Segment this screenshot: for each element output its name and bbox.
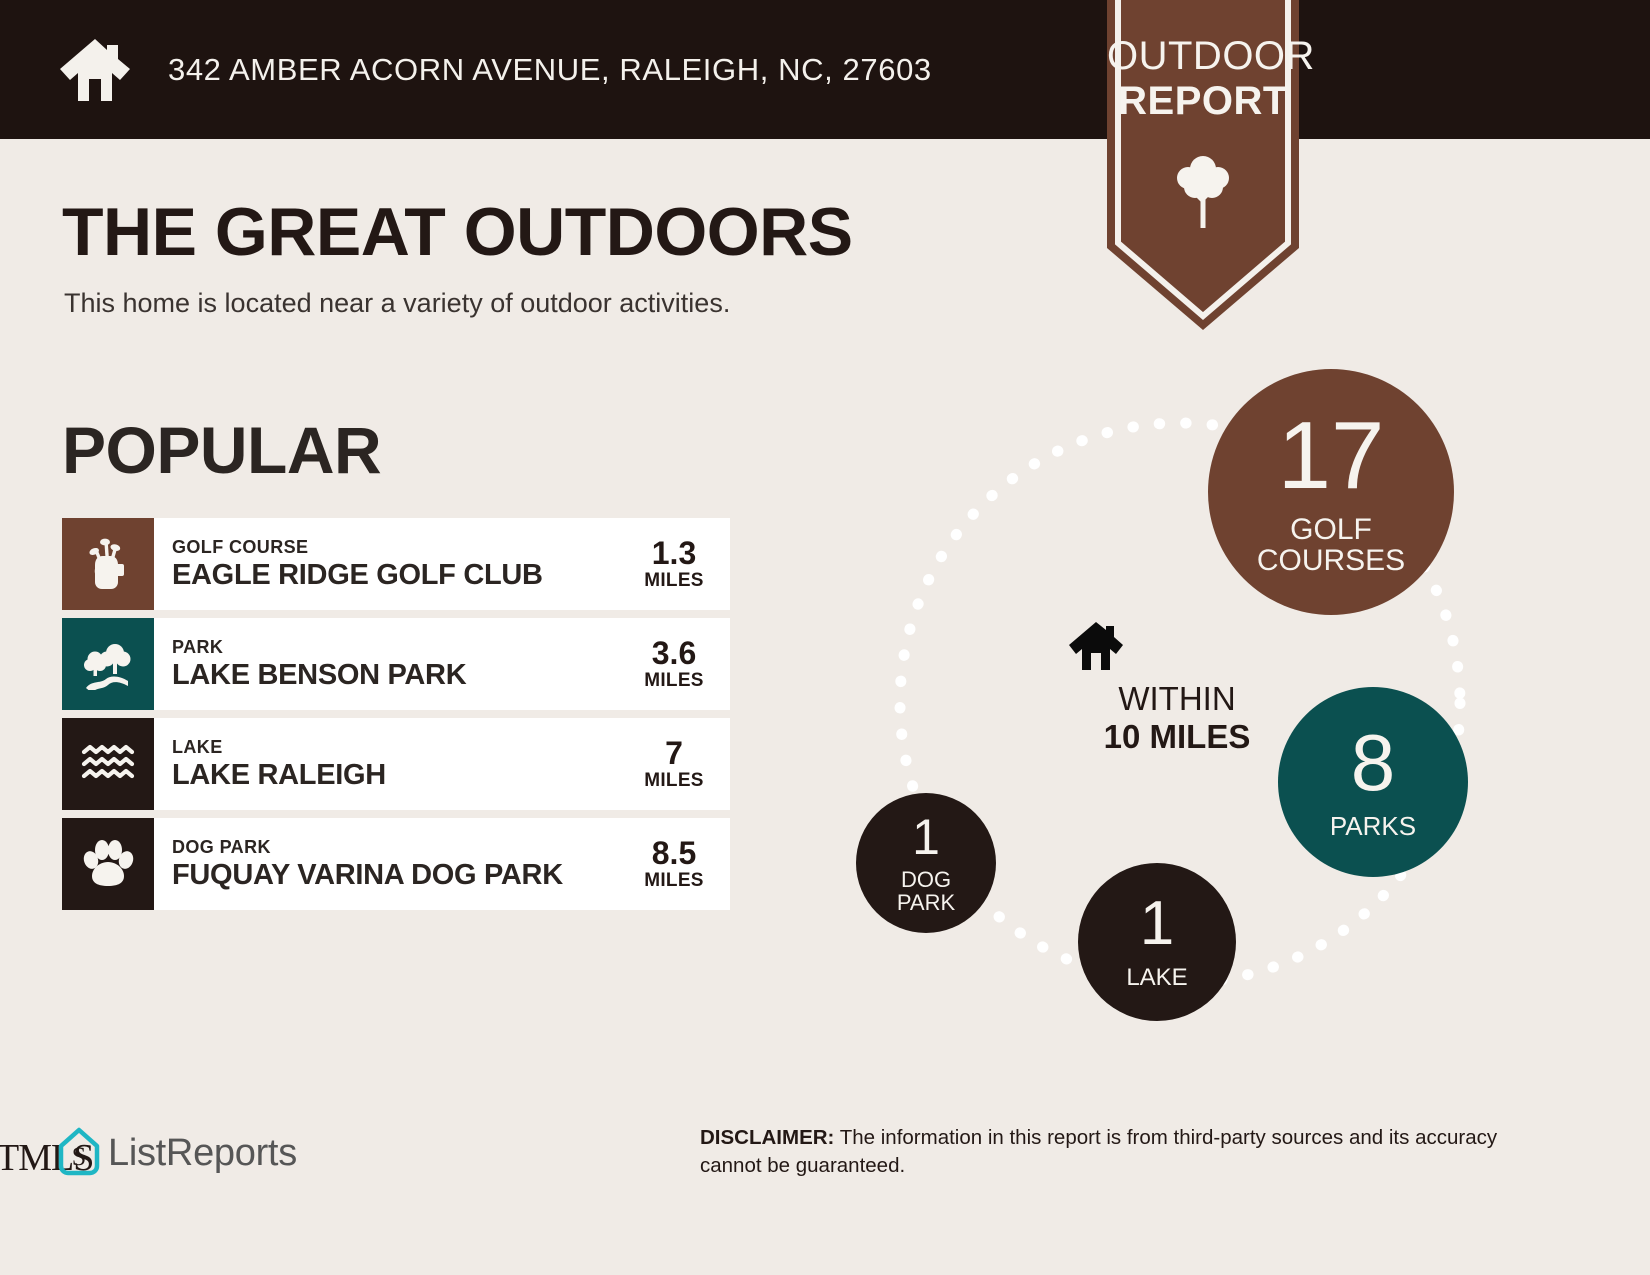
row-distance: 7: [665, 737, 683, 770]
header-bar: 342 AMBER ACORN AVENUE, RALEIGH, NC, 276…: [0, 0, 1650, 139]
home-icon: [1148, 620, 1206, 672]
bubble-label-line1: DOG: [901, 868, 951, 891]
tree-icon: [1172, 152, 1234, 230]
row-text: LAKE LAKE RALEIGH: [154, 718, 634, 810]
bubble-count: 1: [1140, 893, 1174, 955]
bubble-label-line1: GOLF: [1290, 514, 1372, 546]
svg-text:S: S: [72, 1142, 86, 1171]
disclaimer-label: DISCLAIMER:: [700, 1126, 834, 1149]
outdoor-report-badge: OUTDOOR REPORT: [1107, 0, 1299, 330]
disclaimer: DISCLAIMER: The information in this repo…: [700, 1124, 1518, 1180]
row-icon-tile: [62, 618, 154, 710]
list-item[interactable]: PARK LAKE BENSON PARK 3.6 MILES: [62, 618, 730, 710]
row-category: GOLF COURSE: [172, 536, 634, 558]
center-line2: 10 MILES: [1067, 718, 1287, 756]
page-subtitle: This home is located near a variety of o…: [64, 288, 730, 319]
bubble-golf-courses: 17 GOLF COURSES: [1208, 369, 1454, 615]
row-distance-block: 8.5 MILES: [634, 818, 730, 910]
park-trees-icon: [82, 638, 134, 690]
row-category: DOG PARK: [172, 836, 634, 858]
bubble-label-line1: LAKE: [1126, 965, 1187, 990]
row-distance: 1.3: [652, 537, 696, 570]
property-address: 342 AMBER ACORN AVENUE, RALEIGH, NC, 276…: [168, 52, 932, 88]
center-line1: WITHIN: [1067, 680, 1287, 718]
list-item[interactable]: LAKE LAKE RALEIGH 7 MILES: [62, 718, 730, 810]
row-icon-tile: [62, 518, 154, 610]
row-category: PARK: [172, 636, 634, 658]
row-category: LAKE: [172, 736, 634, 758]
row-distance-unit: MILES: [644, 670, 704, 692]
row-name: LAKE BENSON PARK: [172, 658, 634, 692]
bubble-lake: 1 LAKE: [1078, 863, 1236, 1021]
within-10-miles-diagram: WITHIN 10 MILES 17 GOLF COURSES 8 PARKS …: [830, 355, 1530, 1055]
bubble-dog-park: 1 DOG PARK: [856, 793, 996, 933]
bubble-label-line2: COURSES: [1257, 545, 1405, 577]
row-icon-tile: [62, 718, 154, 810]
row-icon-tile: [62, 818, 154, 910]
row-distance-block: 1.3 MILES: [634, 518, 730, 610]
row-name: LAKE RALEIGH: [172, 758, 634, 792]
row-distance-unit: MILES: [644, 870, 704, 892]
section-title-popular: POPULAR: [62, 412, 381, 488]
row-distance-unit: MILES: [644, 770, 704, 792]
row-name: EAGLE RIDGE GOLF CLUB: [172, 558, 634, 592]
row-text: DOG PARK FUQUAY VARINA DOG PARK: [154, 818, 634, 910]
row-text: GOLF COURSE EAGLE RIDGE GOLF CLUB: [154, 518, 634, 610]
listreports-house-icon: S: [56, 1127, 102, 1177]
home-icon: [58, 37, 132, 103]
page-title: THE GREAT OUTDOORS: [62, 193, 853, 271]
footer-logo: TMLS S ListReports: [0, 1110, 340, 1186]
bubble-label-line2: PARK: [897, 891, 955, 914]
row-distance-block: 3.6 MILES: [634, 618, 730, 710]
bubble-count: 17: [1278, 408, 1385, 504]
golf-bag-icon: [85, 538, 131, 590]
row-distance: 3.6: [652, 637, 696, 670]
bubble-count: 8: [1351, 723, 1396, 803]
paw-print-icon: [81, 838, 135, 890]
list-item[interactable]: DOG PARK FUQUAY VARINA DOG PARK 8.5 MILE…: [62, 818, 730, 910]
popular-list: GOLF COURSE EAGLE RIDGE GOLF CLUB 1.3 MI…: [62, 518, 730, 918]
bubble-count: 1: [912, 812, 940, 862]
water-waves-icon: [80, 744, 136, 784]
diagram-center: WITHIN 10 MILES: [1067, 620, 1287, 756]
row-text: PARK LAKE BENSON PARK: [154, 618, 634, 710]
list-item[interactable]: GOLF COURSE EAGLE RIDGE GOLF CLUB 1.3 MI…: [62, 518, 730, 610]
bubble-label-line1: PARKS: [1330, 813, 1416, 840]
row-distance-block: 7 MILES: [634, 718, 730, 810]
row-name: FUQUAY VARINA DOG PARK: [172, 858, 634, 892]
listreports-wordmark: ListReports: [108, 1132, 297, 1175]
row-distance-unit: MILES: [644, 570, 704, 592]
bubble-parks: 8 PARKS: [1278, 687, 1468, 877]
row-distance: 8.5: [652, 837, 696, 870]
